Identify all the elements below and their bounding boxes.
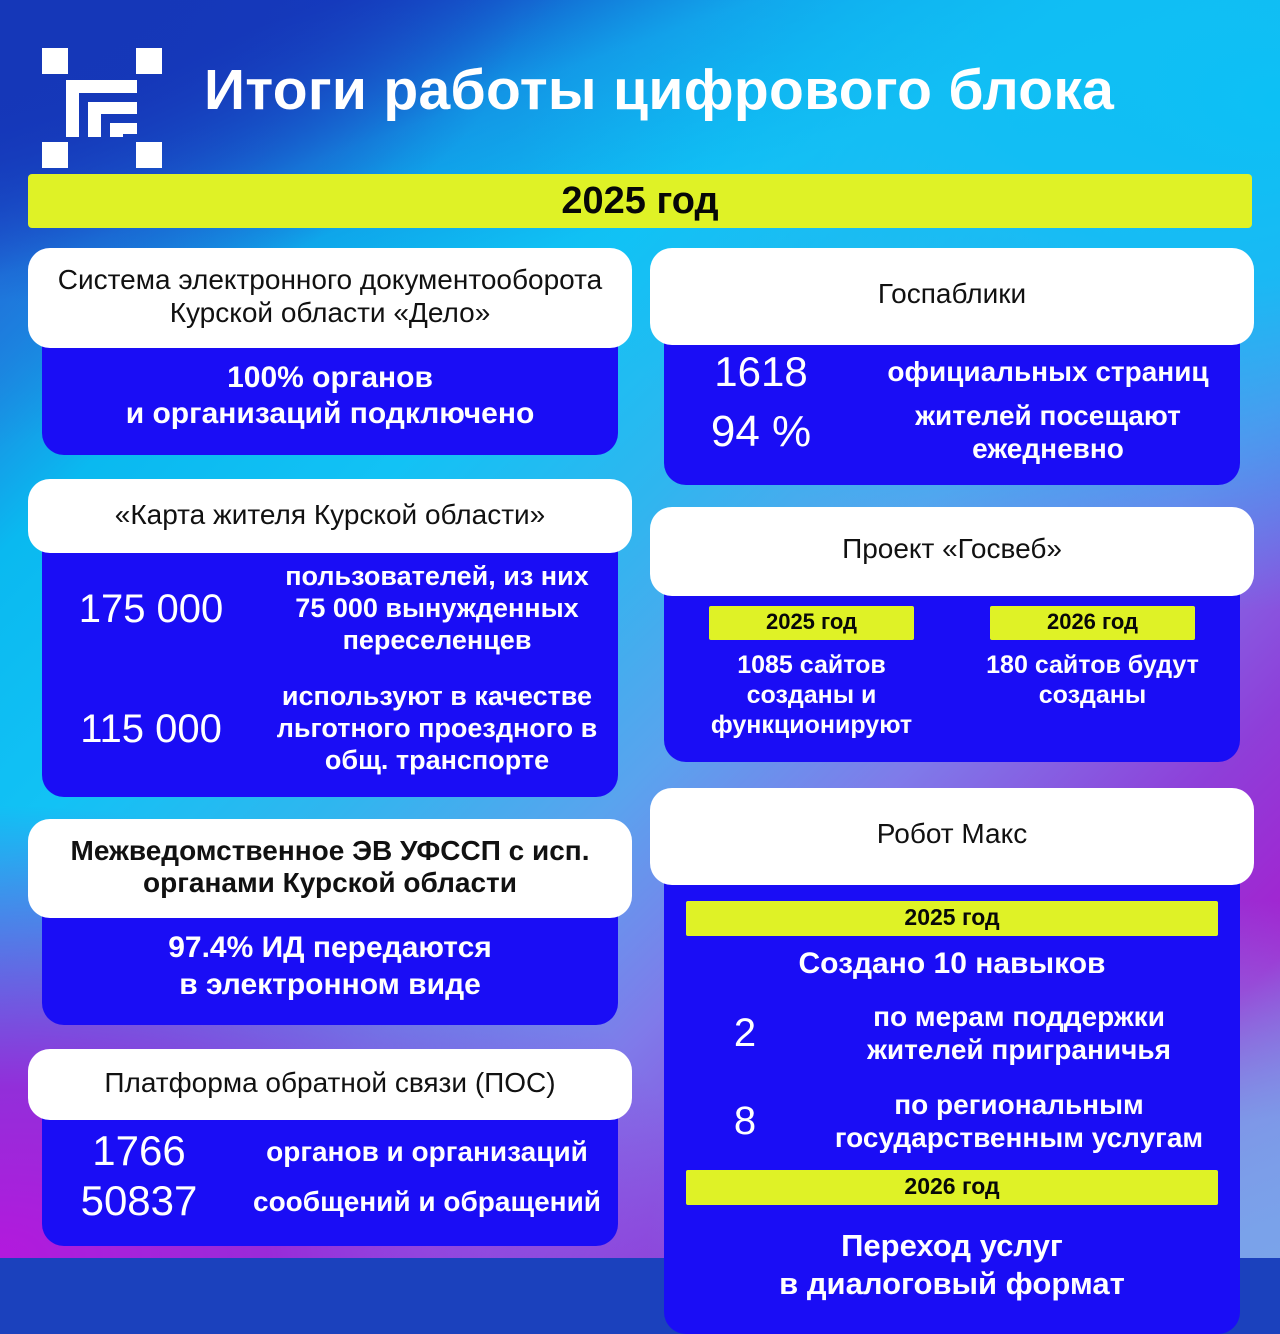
page-title: Итоги работы цифрового блока [204,62,1260,119]
stat-number: 1618 [668,349,854,395]
card-resident-card: «Карта жителя Курской области» 175 000 п… [28,479,632,797]
gosveb-text-2026: 180 сайтов будут созданы [961,650,1224,710]
card-gosveb-body: 2025 год 1085 сайтов созданы и функциони… [664,582,1240,762]
card-resident-card-body: 175 000 пользователей, из них 75 000 вын… [42,539,618,796]
stat-row: 50837 сообщений и обращений [46,1178,608,1224]
card-edo-title: Система электронного документооборота Ку… [28,248,632,348]
left-column: Система электронного документооборота Ку… [28,248,632,1246]
stat-label: по региональным государственным услугам [820,1088,1218,1154]
stat-label: сообщений и обращений [246,1185,608,1218]
stat-row: 1618 официальных страниц [668,349,1228,395]
robot-max-final: Переход услуг в диалоговый формат [686,1227,1218,1305]
stat-label: пользователей, из них 75 000 вынужденных… [270,561,604,657]
stat-number: 175 000 [48,587,254,631]
year-tag-2026: 2026 год [990,606,1195,640]
stat-number: 94 % [668,408,854,456]
right-column: Госпаблики 1618 официальных страниц 94 %… [650,248,1254,1334]
card-gosveb-title: Проект «Госвеб» [650,507,1254,596]
year-tag-2026: 2026 год [686,1170,1218,1205]
stat-label: официальных страниц [868,355,1228,388]
card-robot-max-body: 2025 год Создано 10 навыков 2 по мерам п… [664,871,1240,1334]
card-ufssp-title: Межведомственное ЭВ УФССП с исп. органам… [28,819,632,919]
year-banner: 2025 год [28,174,1252,228]
card-ufssp: Межведомственное ЭВ УФССП с исп. органам… [28,819,632,1026]
year-tag-2025: 2025 год [686,901,1218,936]
page-header: Итоги работы цифрового блока [0,0,1280,172]
gosveb-column-2025: 2025 год 1085 сайтов созданы и функциони… [680,606,943,740]
gosveb-text-2025: 1085 сайтов созданы и функционируют [680,650,943,740]
stat-label: по мерам поддержки жителей приграничья [820,1000,1218,1066]
stat-label: жителей посещают ежедневно [868,399,1228,465]
gosveb-columns: 2025 год 1085 сайтов созданы и функциони… [680,606,1224,740]
card-ufssp-statement: 97.4% ИД передаются в электронном виде [62,930,598,1003]
stat-label: используют в качестве льготного проездно… [270,681,604,777]
stat-row: 8 по региональным государственным услуга… [686,1088,1218,1154]
card-ufssp-body: 97.4% ИД передаются в электронном виде [42,904,618,1025]
stat-row: 94 % жителей посещают ежедневно [668,399,1228,465]
stat-number: 115 000 [48,707,254,751]
card-edo: Система электронного документооборота Ку… [28,248,632,455]
card-robot-max: Робот Макс 2025 год Создано 10 навыков 2… [650,788,1254,1334]
stat-label: органов и организаций [246,1135,608,1168]
card-pos-title: Платформа обратной связи (ПОС) [28,1049,632,1120]
stat-row: 115 000 используют в качестве льготного … [48,681,604,777]
card-gospabliki-body: 1618 официальных страниц 94 % жителей по… [664,331,1240,485]
card-gospabliki: Госпаблики 1618 официальных страниц 94 %… [650,248,1254,485]
card-resident-card-title: «Карта жителя Курской области» [28,479,632,554]
stat-row: 2 по мерам поддержки жителей приграничья [686,1000,1218,1066]
robot-max-summary: Создано 10 навыков [686,946,1218,982]
stat-row: 1766 органов и организаций [46,1128,608,1174]
gosveb-column-2026: 2026 год 180 сайтов будут созданы [961,606,1224,740]
stat-row: 175 000 пользователей, из них 75 000 вын… [48,561,604,657]
nested-corner-brackets-logo-icon [38,46,166,170]
stat-number: 50837 [46,1178,232,1224]
card-robot-max-title: Робот Макс [650,788,1254,885]
stat-number: 8 [686,1099,804,1143]
card-edo-statement: 100% органов и организаций подключено [62,360,598,433]
card-pos-body: 1766 органов и организаций 50837 сообщен… [42,1106,618,1246]
infographic-page: Итоги работы цифрового блока 2025 год Си… [0,0,1280,1258]
card-pos: Платформа обратной связи (ПОС) 1766 орга… [28,1049,632,1246]
card-gospabliki-title: Госпаблики [650,248,1254,345]
stat-number: 1766 [46,1128,232,1174]
stat-number: 2 [686,1011,804,1055]
card-edo-body: 100% органов и организаций подключено [42,334,618,455]
card-gosveb: Проект «Госвеб» 2025 год 1085 сайтов соз… [650,507,1254,762]
year-banner-label: 2025 год [561,182,718,220]
year-tag-2025: 2025 год [709,606,914,640]
